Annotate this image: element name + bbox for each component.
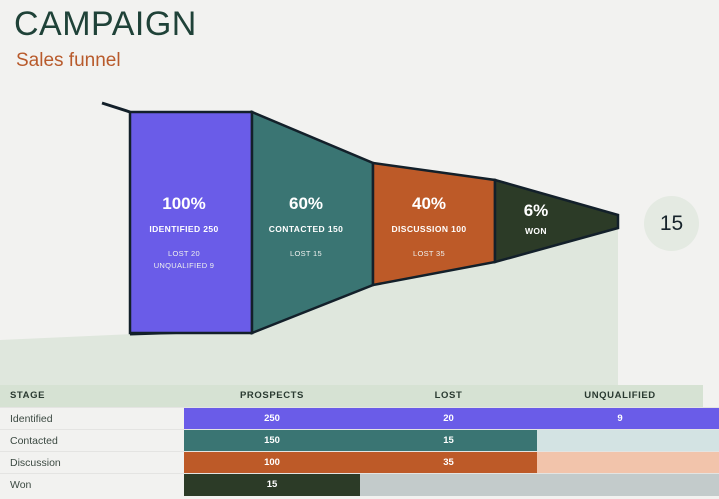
cell-prospects-discussion: 100: [184, 452, 360, 474]
row-label-identified: Identified: [10, 408, 53, 430]
table-row[interactable]: Contacted 150 15: [0, 429, 719, 451]
row-label-won: Won: [10, 474, 31, 496]
total-badge[interactable]: 15: [644, 196, 699, 251]
funnel-label-name-won: WON: [525, 226, 547, 236]
row-label-discussion: Discussion: [10, 452, 61, 474]
funnel-label-lost-contacted: LOST 15: [290, 249, 322, 258]
row-tint-won: [360, 474, 719, 496]
table-header-row: STAGE PROSPECTS LOST UNQUALIFIED: [0, 385, 703, 407]
column-header-unqualified: UNQUALIFIED: [537, 385, 703, 407]
funnel-chart: 100% IDENTIFIED 250 LOST 20 UNQUALIFIED …: [0, 0, 719, 390]
table-row[interactable]: Identified 250 20 9: [0, 407, 719, 429]
total-badge-value: 15: [660, 212, 683, 236]
funnel-label-name-identified: IDENTIFIED 250: [149, 224, 218, 234]
funnel-label-percent-won: 6%: [524, 201, 549, 220]
funnel-leader-top: [102, 103, 130, 112]
funnel-label-lost-identified: LOST 20: [168, 249, 200, 258]
funnel-label-unqualified-identified: UNQUALIFIED 9: [154, 261, 215, 270]
row-tint-contacted: [537, 430, 719, 452]
cell-lost-identified: 20: [360, 408, 537, 430]
column-header-lost: LOST: [360, 385, 537, 407]
table-row[interactable]: Won 15: [0, 473, 719, 495]
cell-lost-discussion: 35: [360, 452, 537, 474]
funnel-label-name-contacted: CONTACTED 150: [269, 224, 343, 234]
row-label-contacted: Contacted: [10, 430, 58, 452]
cell-prospects-identified: 250: [184, 408, 360, 430]
cell-unqualified-identified: 9: [537, 408, 703, 430]
funnel-label-percent-discussion: 40%: [412, 194, 446, 213]
funnel-label-percent-identified: 100%: [162, 194, 205, 213]
funnel-label-percent-contacted: 60%: [289, 194, 323, 213]
cell-prospects-won: 15: [184, 474, 360, 496]
row-tint-discussion: [537, 452, 719, 474]
cell-lost-contacted: 15: [360, 430, 537, 452]
cell-prospects-contacted: 150: [184, 430, 360, 452]
funnel-segment-identified[interactable]: [130, 112, 252, 333]
slide-root: CAMPAIGN Sales funnel 100% IDENTIFIED 25…: [0, 0, 719, 499]
stage-table: STAGE PROSPECTS LOST UNQUALIFIED Identif…: [0, 385, 719, 499]
column-header-stage: STAGE: [10, 385, 45, 407]
funnel-label-name-discussion: DISCUSSION 100: [391, 224, 466, 234]
funnel-label-lost-discussion: LOST 35: [413, 249, 445, 258]
column-header-prospects: PROSPECTS: [184, 385, 360, 407]
table-row[interactable]: Discussion 100 35: [0, 451, 719, 473]
